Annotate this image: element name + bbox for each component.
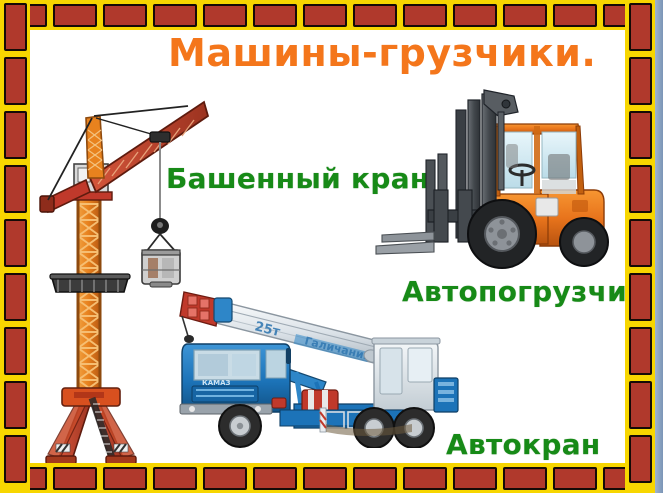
brick [4,435,27,483]
slide-root: Машины-грузчики. [0,0,663,493]
brick [303,467,347,490]
brick [629,219,652,267]
brick [203,4,247,27]
brick [503,467,547,490]
brick [103,4,147,27]
brick [253,4,297,27]
brick [4,165,27,213]
brick [4,327,27,375]
image-mobile-crane: 25т Галичанин [176,286,464,448]
brick [253,467,297,490]
brick [629,3,652,51]
brick [553,4,597,27]
brick [629,435,652,483]
brick [629,111,652,159]
brick [4,111,27,159]
right-edge-strip [655,0,663,493]
brick [53,467,97,490]
brick [453,467,497,490]
brick [153,467,197,490]
brick [153,4,197,27]
brick [4,57,27,105]
brick [303,4,347,27]
brick [503,4,547,27]
caption-mobile-crane: Автокран [446,428,601,461]
brick [629,327,652,375]
brick [629,165,652,213]
brick [53,4,97,27]
brick [553,467,597,490]
brick [4,219,27,267]
brick [403,4,447,27]
brick [203,467,247,490]
brick [629,273,652,321]
brick [629,57,652,105]
brick [353,467,397,490]
brick-border-bottom [0,463,655,493]
brick [4,3,27,51]
brick-border-right [625,0,655,493]
brick [629,381,652,429]
brick [453,4,497,27]
brick [103,467,147,490]
brick [353,4,397,27]
brick [4,381,27,429]
brick [403,467,447,490]
svg-text:КАМАЗ: КАМАЗ [202,379,231,387]
brick [4,273,27,321]
image-forklift [372,82,620,282]
page-title: Машины-грузчики. [168,31,596,75]
brick-border-left [0,0,30,493]
brick-border-top [0,0,655,30]
